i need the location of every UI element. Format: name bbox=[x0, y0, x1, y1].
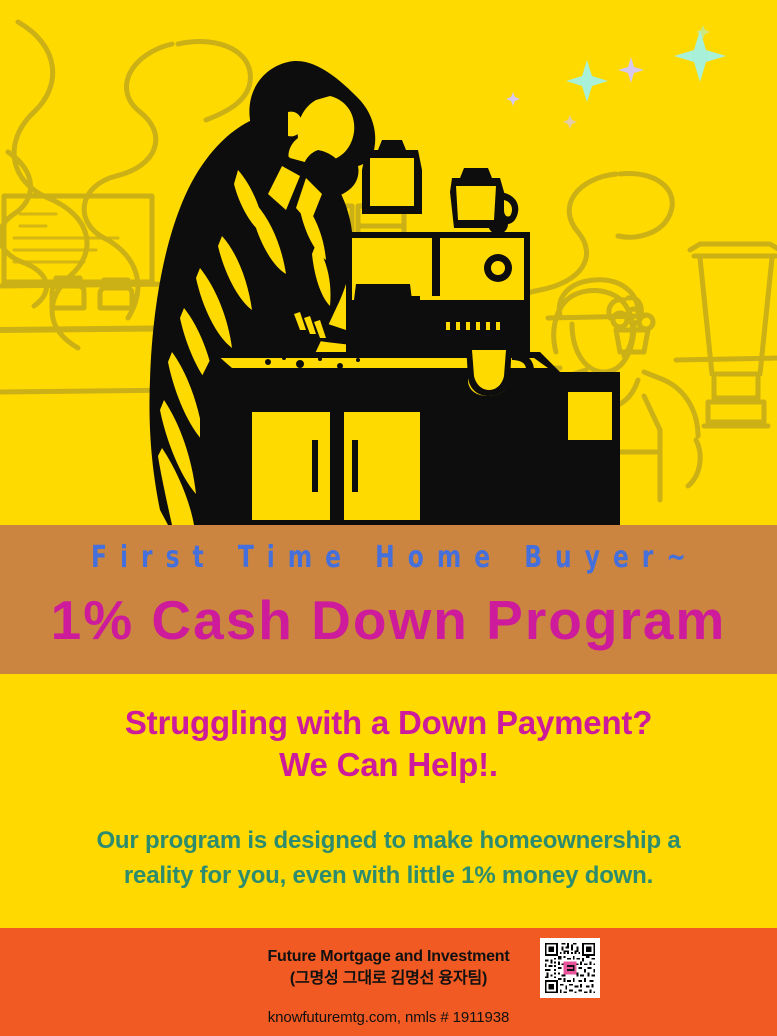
poster: First Time Home Buyer~ 1% Cash Down Prog… bbox=[0, 0, 777, 1036]
subheadline-line-1: Struggling with a Down Payment? bbox=[125, 704, 652, 741]
company-name-korean: (그명성 그대로 김명선 융자팀) bbox=[0, 968, 777, 990]
footer-section: Future Mortgage and Investment (그명성 그대로 … bbox=[0, 928, 777, 1036]
subheadline-line-2: We Can Help!. bbox=[0, 744, 777, 786]
company-name: Future Mortgage and Investment bbox=[0, 946, 777, 968]
website-and-nmls: knowfuturemtg.com, nmls # 1911938 bbox=[0, 1009, 777, 1026]
subheadline: Struggling with a Down Payment? We Can H… bbox=[0, 674, 777, 786]
barista-illustration bbox=[0, 0, 777, 525]
footer-contact-block: Future Mortgage and Investment (그명성 그대로 … bbox=[0, 928, 777, 1026]
banner-headline: 1% Cash Down Program bbox=[51, 593, 727, 648]
paragraph-line-2: reality for you, even with little 1% mon… bbox=[0, 859, 777, 893]
banner-kicker: First Time Home Buyer~ bbox=[78, 543, 699, 573]
qr-code[interactable] bbox=[540, 938, 600, 998]
body-copy-section: Struggling with a Down Payment? We Can H… bbox=[0, 674, 777, 928]
paragraph-line-1: Our program is designed to make homeowne… bbox=[96, 827, 680, 854]
qr-center-logo bbox=[563, 961, 576, 974]
banner-section: First Time Home Buyer~ 1% Cash Down Prog… bbox=[0, 525, 777, 674]
program-paragraph: Our program is designed to make homeowne… bbox=[0, 786, 777, 892]
